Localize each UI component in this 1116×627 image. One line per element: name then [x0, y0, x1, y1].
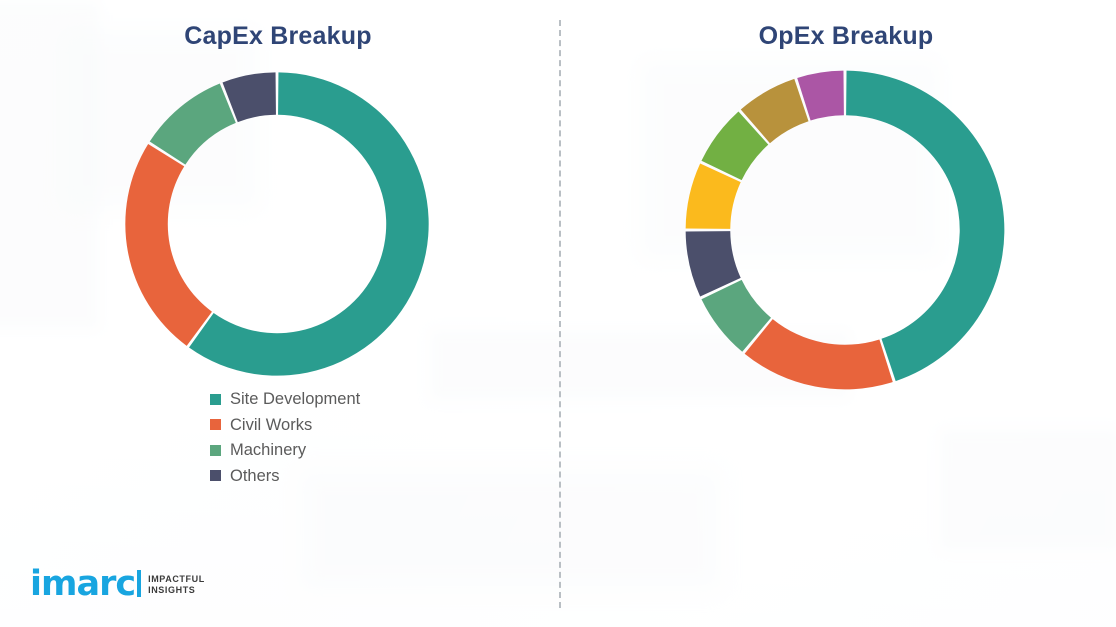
legend-label: Site Development [230, 391, 360, 408]
capex-donut-svg [119, 66, 435, 382]
legend-item[interactable]: Civil Works [210, 417, 360, 434]
logo-tagline-line1: IMPACTFUL [148, 574, 205, 585]
legend-item[interactable]: Machinery [210, 442, 360, 459]
logo-tagline: IMPACTFUL INSIGHTS [148, 574, 205, 600]
legend-swatch-others [210, 470, 221, 481]
opex-donut-svg [679, 64, 1011, 396]
logo-divider-bar [137, 570, 141, 597]
capex-chart-title: CapEx Breakup [0, 22, 557, 51]
donut-slice-raw-materials[interactable] [846, 71, 1004, 381]
capex-donut-chart [119, 66, 435, 382]
donut-slice-machinery[interactable] [150, 84, 236, 165]
imarc-logo: imarc IMPACTFUL INSIGHTS [30, 565, 205, 599]
legend-swatch-site-development [210, 394, 221, 405]
slide-canvas: CapEx Breakup Site Development Civil Wor… [0, 0, 1116, 627]
opex-chart-title: OpEx Breakup [567, 22, 1116, 51]
donut-slice-salaries-and-wages[interactable] [745, 319, 893, 389]
donut-slice-civil-works[interactable] [125, 144, 212, 346]
capex-panel: CapEx Breakup Site Development Civil Wor… [0, 0, 558, 627]
legend-item[interactable]: Site Development [210, 391, 360, 408]
opex-panel: OpEx Breakup Raw Materials Salaries and … [558, 0, 1116, 627]
capex-legend: Site Development Civil Works Machinery O… [210, 391, 360, 493]
legend-label: Civil Works [230, 417, 312, 434]
legend-label: Machinery [230, 442, 306, 459]
legend-swatch-civil-works [210, 419, 221, 430]
legend-item[interactable]: Others [210, 468, 360, 485]
logo-mark: imarc [30, 565, 148, 599]
legend-swatch-machinery [210, 445, 221, 456]
logo-tagline-line2: INSIGHTS [148, 585, 205, 596]
legend-label: Others [230, 468, 280, 485]
opex-donut-chart [679, 64, 1011, 396]
logo-wordmark: imarc [30, 570, 135, 599]
